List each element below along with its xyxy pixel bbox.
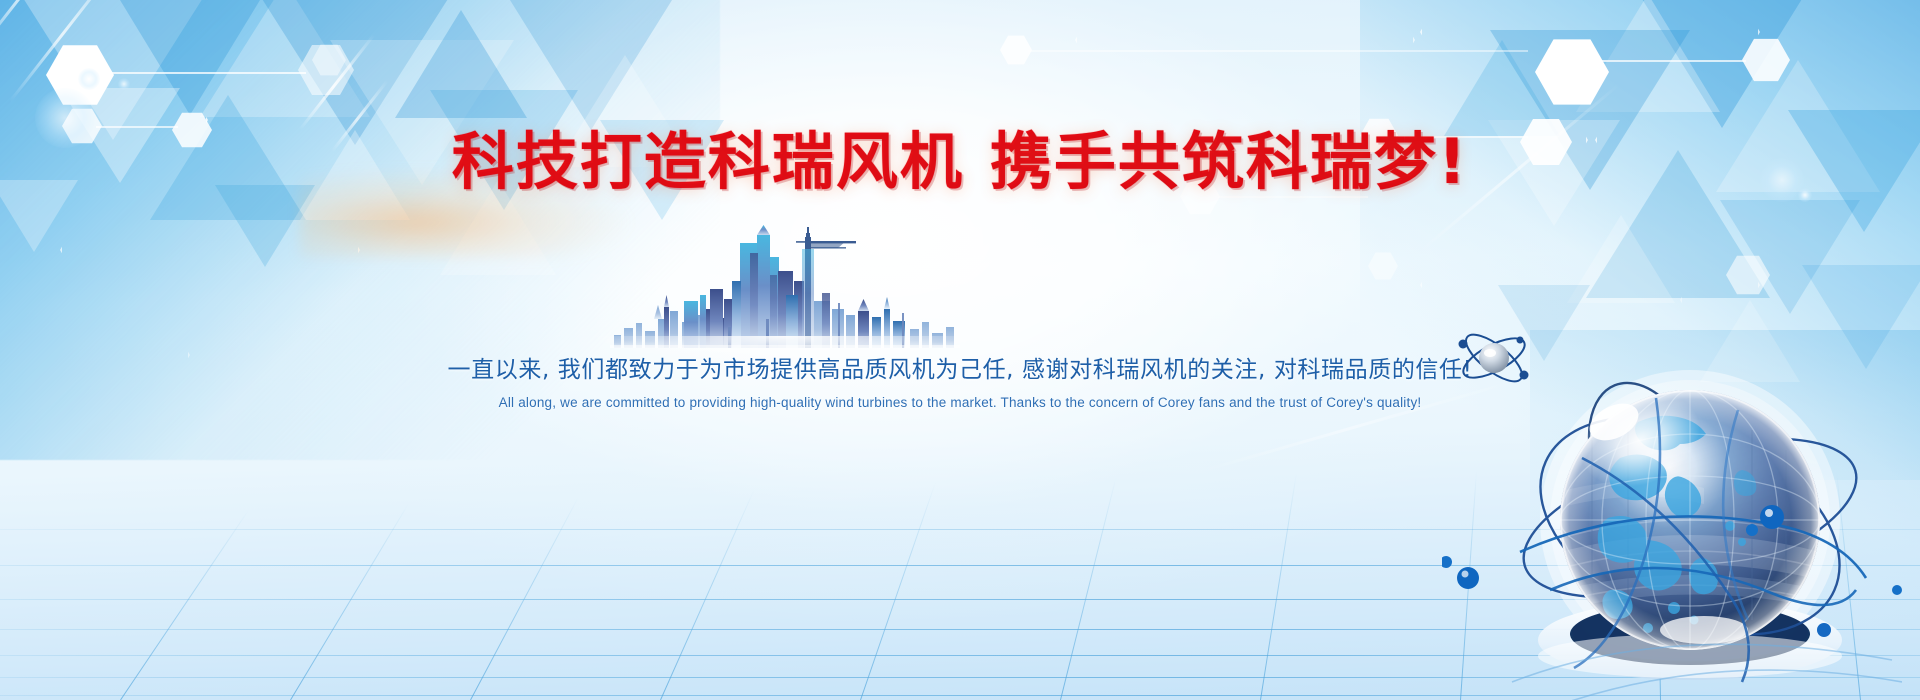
triangle-pattern-icon (250, 0, 460, 145)
light-streak (299, 34, 375, 130)
globe-icon (1442, 290, 1902, 700)
light-streak (9, 0, 128, 102)
hexagon-connector (110, 72, 306, 74)
hexagon-connector (1566, 60, 1746, 62)
hexagon-node-icon (1368, 252, 1398, 280)
promo-banner: 科技打造科瑞风机携手共筑科瑞梦! (0, 0, 1920, 700)
triangle-pattern-icon (1576, 0, 1720, 112)
triangle-pattern-icon (120, 0, 260, 115)
triangle-pattern-icon (395, 10, 527, 118)
hexagon-node-icon (1535, 38, 1609, 106)
hexagon-pattern-icon (88, 0, 388, 110)
hexagon-connector (1028, 50, 1528, 52)
city-skyline-icon (610, 223, 960, 348)
hexagon-node-icon (1726, 255, 1770, 295)
hexagon-node-icon (1742, 38, 1790, 82)
glow-dot (118, 78, 130, 90)
triangle-pattern-icon (1634, 0, 1810, 128)
triangle-pattern-icon (200, 0, 370, 117)
page-title: 科技打造科瑞风机携手共筑科瑞梦! (0, 127, 1920, 196)
triangle-pattern-icon (18, 0, 208, 140)
headline-part-1: 科技打造科瑞风机 (452, 125, 964, 198)
hexagon-node-icon (312, 44, 346, 76)
glow-dot (78, 68, 100, 90)
headline-part-2: 携手共筑科瑞梦! (990, 125, 1468, 198)
hexagon-pattern-icon (0, 0, 208, 250)
triangle-pattern-icon (505, 0, 677, 130)
hexagon-node-icon (1000, 35, 1032, 65)
triangle-pattern-icon (1444, 40, 1560, 136)
hexagon-node-icon (46, 44, 114, 106)
light-streak (0, 0, 113, 62)
triangle-pattern-icon (215, 185, 315, 267)
hexagon-node-icon (298, 44, 354, 96)
